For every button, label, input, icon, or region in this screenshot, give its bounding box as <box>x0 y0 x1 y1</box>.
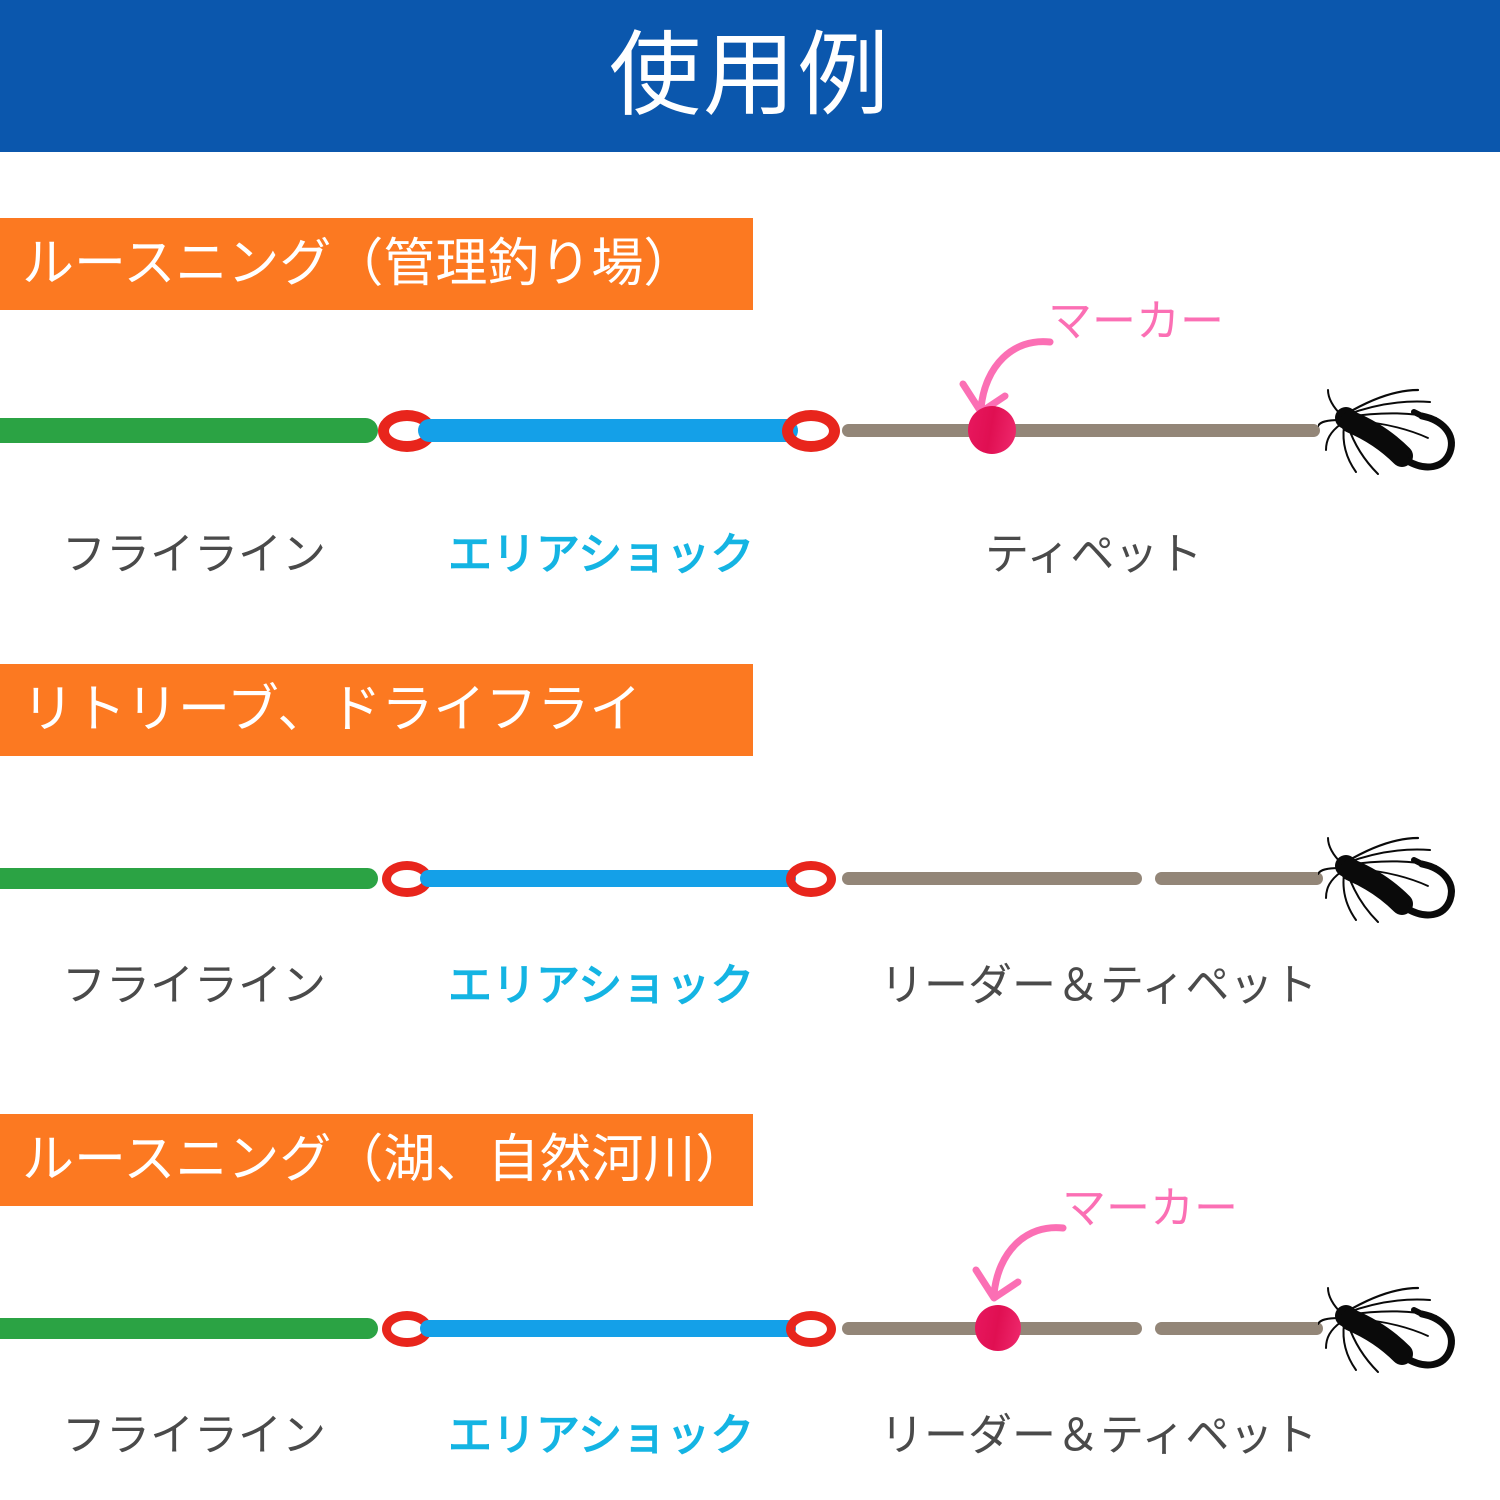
fly-hook-icon-0 <box>1318 368 1498 498</box>
label-shock-leader-2: エリアショック <box>448 1414 754 1458</box>
label-shock-leader-0: エリアショック <box>448 533 754 577</box>
label-fly-line-0: フライライン <box>62 533 326 577</box>
label-fly-line-2: フライライン <box>62 1414 326 1458</box>
fly-line-segment-0 <box>0 418 378 443</box>
loop-connector-icon-1b <box>786 861 836 897</box>
shock-leader-segment-2 <box>420 1320 796 1337</box>
label-fly-line-1: フライライン <box>62 964 326 1008</box>
shock-leader-segment-0 <box>418 419 798 442</box>
tippet-segment-0 <box>842 424 1320 437</box>
label-terminal-2: リーダー＆ティペット <box>880 1414 1317 1458</box>
section-header-label-2: ルースニング（湖、自然河川） <box>0 1134 747 1186</box>
tippet-segment-2b <box>1155 1322 1323 1335</box>
rig-diagram-2 <box>0 1274 1500 1404</box>
section-header-2: ルースニング（湖、自然河川） <box>0 1114 753 1206</box>
label-shock-leader-1: エリアショック <box>448 964 754 1008</box>
strike-indicator-icon-0 <box>968 406 1016 454</box>
shock-leader-segment-1 <box>420 870 796 887</box>
fly-line-segment-1 <box>0 868 378 889</box>
section-header-label-1: リトリーブ、ドライフライ <box>0 684 641 736</box>
fly-hook-icon-1 <box>1318 816 1498 946</box>
rig-diagram-1 <box>0 824 1500 954</box>
marker-callout-label-0: マーカー <box>1048 300 1224 344</box>
loop-connector-icon-0b <box>782 410 840 452</box>
page-title-bar: 使用例 <box>0 0 1500 152</box>
rig-label-row-2: フライライン エリアショック リーダー＆ティペット <box>0 1414 1500 1484</box>
label-terminal-0: ティペット <box>985 533 1202 577</box>
tippet-segment-1b <box>1155 872 1323 885</box>
rig-label-row-1: フライライン エリアショック リーダー＆ティペット <box>0 964 1500 1034</box>
fly-hook-icon-2 <box>1318 1266 1498 1396</box>
fly-line-segment-2 <box>0 1318 378 1339</box>
loop-connector-icon-2b <box>786 1311 836 1347</box>
leader-segment-1a <box>842 872 1142 885</box>
strike-indicator-icon-2 <box>975 1305 1021 1351</box>
marker-callout-label-2: マーカー <box>1062 1187 1238 1231</box>
section-header-1: リトリーブ、ドライフライ <box>0 664 753 756</box>
rig-label-row-0: フライライン エリアショック ティペット <box>0 533 1500 603</box>
section-header-0: ルースニング（管理釣り場） <box>0 218 753 310</box>
section-header-label-0: ルースニング（管理釣り場） <box>0 238 695 290</box>
page-title: 使用例 <box>609 30 891 122</box>
label-terminal-1: リーダー＆ティペット <box>880 964 1317 1008</box>
rig-diagram-0 <box>0 378 1500 508</box>
